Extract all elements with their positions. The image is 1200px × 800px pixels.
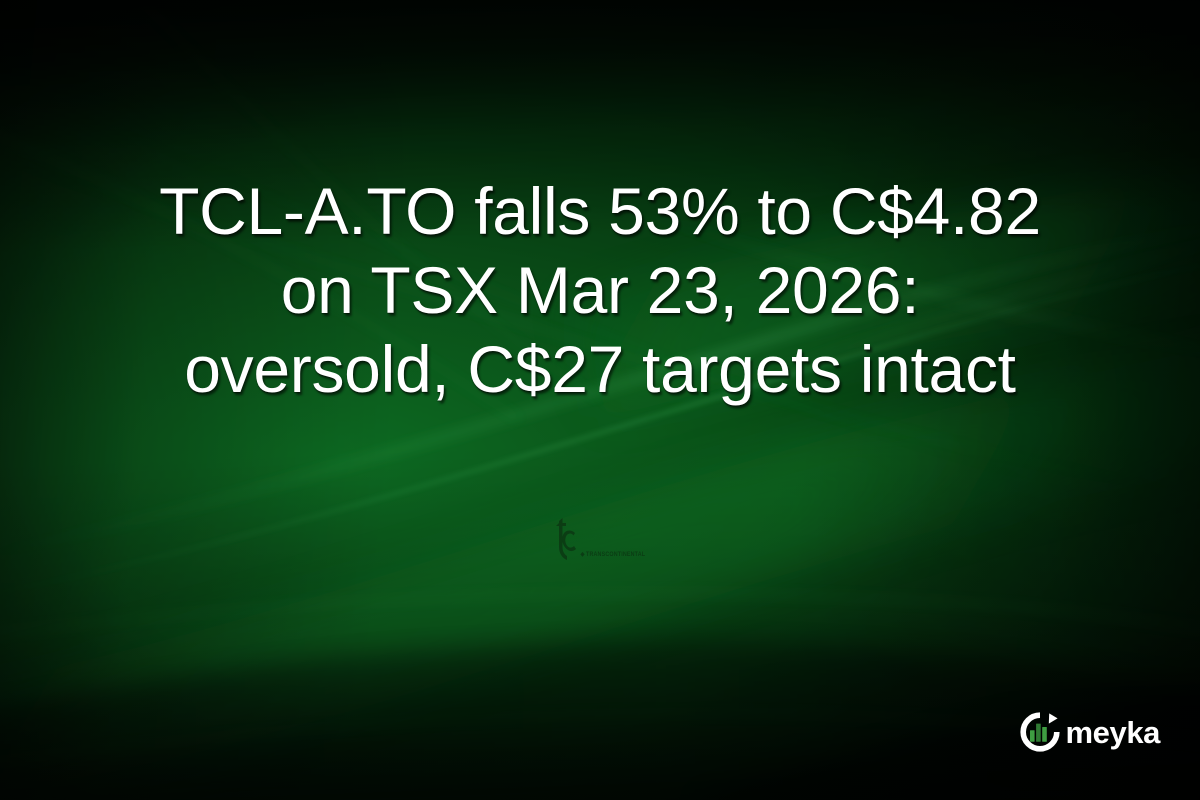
company-watermark: TRANSCONTINENTAL <box>555 512 675 570</box>
watermark-dot-icon <box>580 552 584 557</box>
brand-logo[interactable]: meyka <box>1020 712 1160 752</box>
watermark-text: TRANSCONTINENTAL <box>581 552 645 558</box>
headline-line-1: TCL-A.TO falls 53% to C$4.82 <box>159 172 1041 251</box>
headline-line-2: on TSX Mar 23, 2026: <box>159 251 1041 330</box>
meyka-logo-icon <box>1020 712 1060 752</box>
page-title: TCL-A.TO falls 53% to C$4.82 on TSX Mar … <box>159 172 1041 410</box>
watermark-company-name: TRANSCONTINENTAL <box>586 551 645 558</box>
brand-name: meyka <box>1065 717 1160 748</box>
headline-line-3: oversold, C$27 targets intact <box>159 330 1041 409</box>
transcontinental-mark-icon <box>555 517 577 565</box>
headline-container: TCL-A.TO falls 53% to C$4.82 on TSX Mar … <box>0 172 1200 410</box>
headline-card: TCL-A.TO falls 53% to C$4.82 on TSX Mar … <box>0 0 1200 800</box>
